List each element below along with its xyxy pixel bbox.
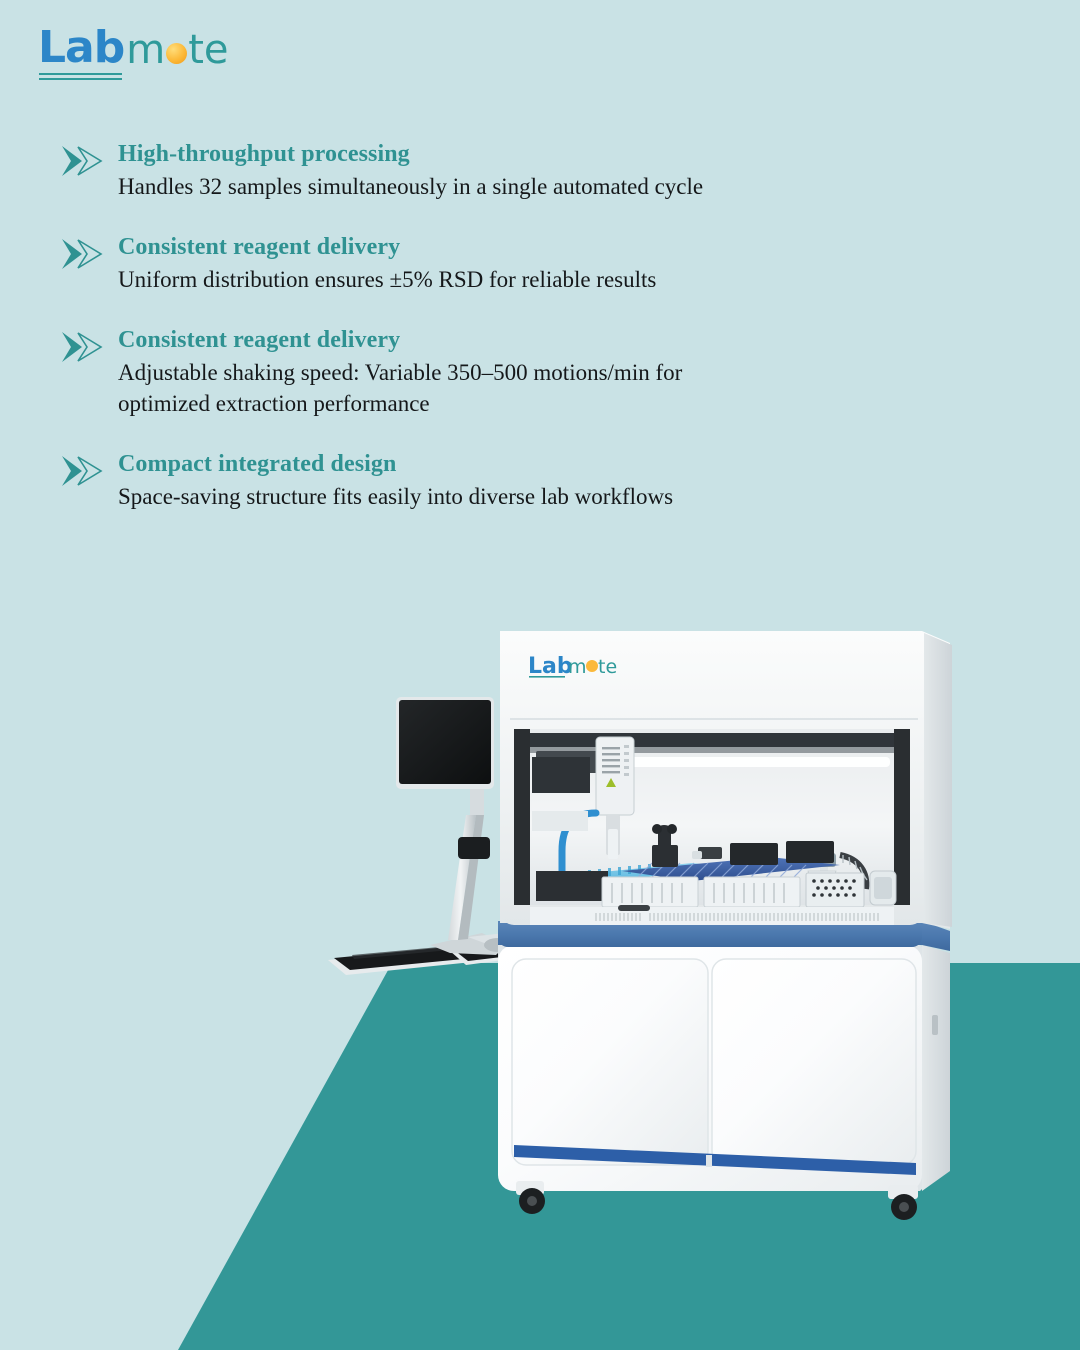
deck-tray bbox=[870, 871, 896, 905]
deck-knob bbox=[652, 824, 678, 867]
deck-handle[interactable] bbox=[618, 905, 650, 911]
brand-logo-mate-suffix: te bbox=[188, 27, 228, 73]
enclosure-post-left bbox=[514, 729, 530, 905]
cabinet-door-right[interactable] bbox=[712, 959, 916, 1165]
brand-orange-dot-icon bbox=[166, 43, 187, 64]
brand-logo-mate: mte bbox=[126, 30, 228, 70]
perforated-plate-module bbox=[806, 873, 864, 907]
arm-accessory-box bbox=[458, 837, 490, 859]
interior-light-bar bbox=[600, 757, 890, 767]
brand-logo-lab-text: Lab bbox=[38, 22, 124, 73]
brand-logo: Lab mte bbox=[38, 26, 229, 70]
feature-title: Consistent reagent delivery bbox=[118, 233, 760, 262]
cabinet-strip-gap bbox=[706, 1155, 712, 1167]
deck-black-module bbox=[786, 841, 834, 863]
device-blue-band bbox=[498, 921, 950, 951]
brand-underline-bottom bbox=[39, 78, 122, 80]
double-chevron-icon bbox=[60, 237, 108, 271]
caster-wheel bbox=[888, 1185, 918, 1220]
cabinet-side-latch[interactable] bbox=[932, 1015, 938, 1035]
feature-title: Compact integrated design bbox=[118, 450, 760, 479]
feature-item: Compact integrated design Space-saving s… bbox=[60, 450, 760, 513]
gantry-rail bbox=[530, 733, 894, 747]
feature-title: Consistent reagent delivery bbox=[118, 326, 760, 355]
cabinet-side-panel bbox=[922, 945, 950, 1191]
double-chevron-icon bbox=[60, 454, 108, 488]
feature-item: Consistent reagent delivery Uniform dist… bbox=[60, 233, 760, 296]
svg-text:te: te bbox=[598, 656, 617, 678]
deck-front-panel bbox=[530, 907, 894, 925]
double-chevron-icon bbox=[60, 330, 108, 364]
caster-wheel bbox=[516, 1181, 545, 1214]
svg-text:m: m bbox=[568, 656, 587, 678]
device-brand-logo: Lab m te bbox=[528, 654, 617, 679]
monitor-screen bbox=[399, 700, 491, 784]
cabinet-base bbox=[498, 945, 950, 1220]
left-shelf bbox=[532, 811, 588, 831]
deck-dark-module bbox=[536, 871, 608, 901]
brand-logo-lab: Lab bbox=[38, 26, 124, 70]
feature-list: High-throughput processing Handles 32 sa… bbox=[60, 140, 760, 543]
monitor bbox=[396, 697, 494, 789]
instrument-hood: Lab m te bbox=[500, 631, 952, 929]
feature-description: Adjustable shaking speed: Variable 350–5… bbox=[118, 357, 760, 420]
cabinet-door-left[interactable] bbox=[512, 959, 708, 1165]
feature-description: Space-saving structure fits easily into … bbox=[118, 481, 760, 513]
feature-description: Uniform distribution ensures ±5% RSD for… bbox=[118, 264, 760, 296]
deck-black-module bbox=[730, 843, 778, 865]
feature-title: High-throughput processing bbox=[118, 140, 760, 169]
tube-holder-rack bbox=[704, 877, 800, 907]
tube-holder-rack bbox=[602, 877, 698, 907]
brand-logo-mate-prefix: m bbox=[126, 27, 165, 73]
hood-side-panel bbox=[924, 633, 952, 927]
double-chevron-icon bbox=[60, 144, 108, 178]
feature-item: High-throughput processing Handles 32 sa… bbox=[60, 140, 760, 203]
poster-canvas: Lab mte High-throughput processing Handl… bbox=[0, 0, 1080, 1350]
brand-underline-top bbox=[39, 73, 122, 75]
left-module bbox=[532, 757, 590, 793]
feature-description: Handles 32 samples simultaneously in a s… bbox=[118, 171, 760, 203]
product-image: Lab m te bbox=[300, 615, 1080, 1255]
svg-text:Lab: Lab bbox=[528, 654, 573, 679]
monitor-neck bbox=[470, 787, 484, 815]
feature-item: Consistent reagent delivery Adjustable s… bbox=[60, 326, 760, 420]
